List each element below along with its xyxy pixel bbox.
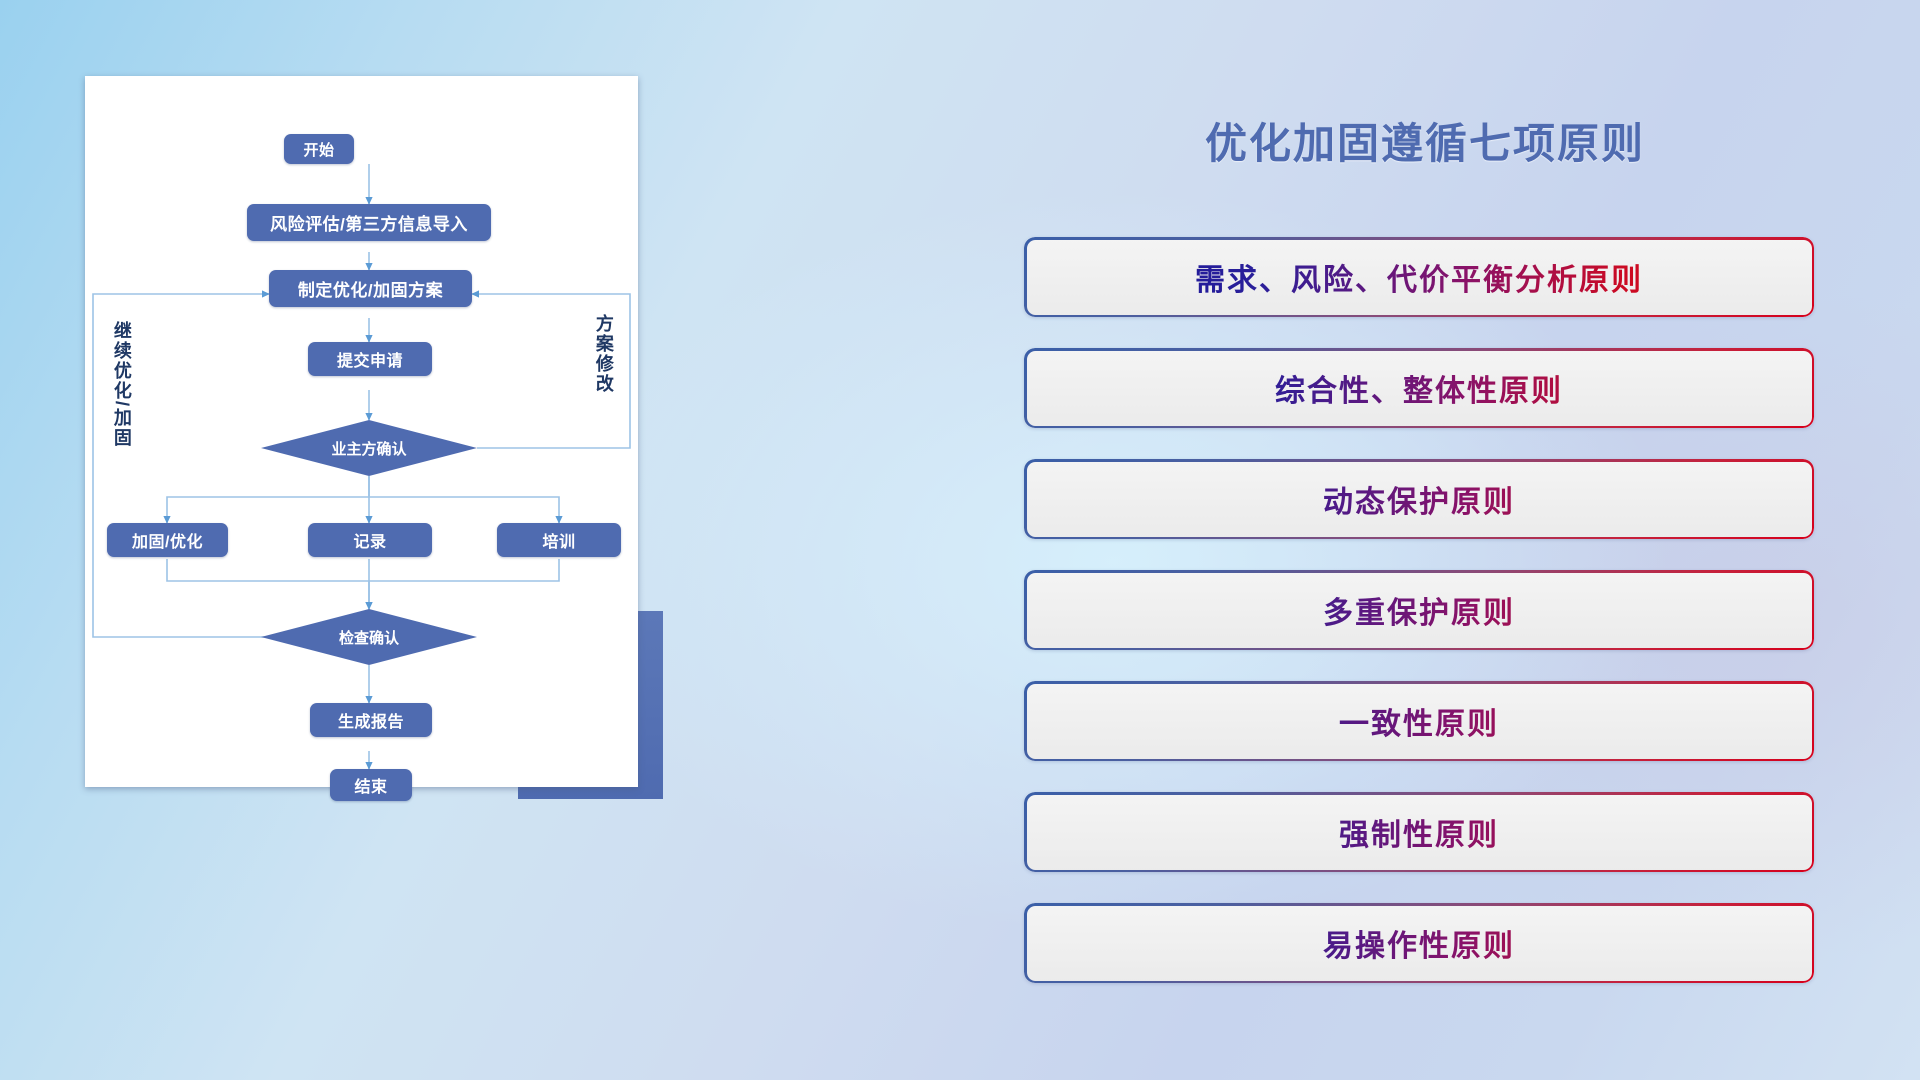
principle-label: 多重保护原则	[1024, 570, 1814, 650]
principle-label: 综合性、整体性原则	[1024, 348, 1814, 428]
principle-item-6[interactable]: 强制性原则	[1024, 792, 1814, 872]
node-check-confirm[interactable]: 检查确认	[261, 609, 477, 665]
node-make-plan[interactable]: 制定优化/加固方案	[269, 270, 472, 307]
edge-label-plan-revision: 方案修改	[594, 314, 613, 422]
principle-label: 需求、风险、代价平衡分析原则	[1024, 237, 1814, 317]
principle-item-7[interactable]: 易操作性原则	[1024, 903, 1814, 983]
node-generate-report[interactable]: 生成报告	[310, 703, 432, 737]
node-label: 检查确认	[339, 627, 399, 648]
principle-item-5[interactable]: 一致性原则	[1024, 681, 1814, 761]
principle-label: 强制性原则	[1024, 792, 1814, 872]
node-risk-assessment[interactable]: 风险评估/第三方信息导入	[247, 204, 491, 241]
node-record[interactable]: 记录	[308, 523, 432, 557]
principle-item-2[interactable]: 综合性、整体性原则	[1024, 348, 1814, 428]
node-submit-application[interactable]: 提交申请	[308, 342, 432, 376]
edge-label-continue-optimize: 继续优化/加固	[112, 321, 131, 451]
node-end[interactable]: 结束	[330, 769, 412, 801]
node-training[interactable]: 培训	[497, 523, 621, 557]
principle-item-3[interactable]: 动态保护原则	[1024, 459, 1814, 539]
node-label: 业主方确认	[331, 438, 406, 459]
node-owner-confirm[interactable]: 业主方确认	[261, 420, 477, 476]
principle-item-4[interactable]: 多重保护原则	[1024, 570, 1814, 650]
principle-label: 易操作性原则	[1024, 903, 1814, 983]
flowchart-card: 开始 风险评估/第三方信息导入 制定优化/加固方案 提交申请 业主方确认 加固/…	[85, 76, 638, 787]
panel-title: 优化加固遵循七项原则	[1030, 110, 1820, 171]
slide-canvas: 开始 风险评估/第三方信息导入 制定优化/加固方案 提交申请 业主方确认 加固/…	[0, 0, 1920, 1080]
principle-label: 动态保护原则	[1024, 459, 1814, 539]
principle-item-1[interactable]: 需求、风险、代价平衡分析原则	[1024, 237, 1814, 317]
principle-label: 一致性原则	[1024, 681, 1814, 761]
node-start[interactable]: 开始	[284, 134, 354, 164]
node-reinforce-optimize[interactable]: 加固/优化	[107, 523, 228, 557]
